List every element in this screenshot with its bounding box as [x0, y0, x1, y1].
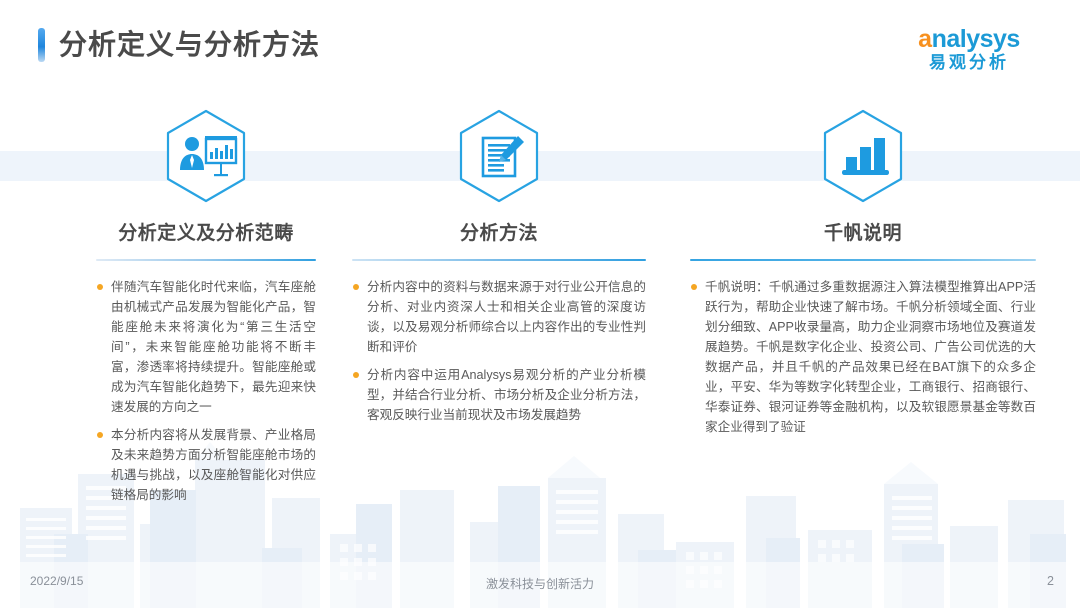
- bullet-list: 分析内容中的资料与数据来源于对行业公开信息的分析、对业内资深人士和相关企业高管的…: [352, 277, 646, 425]
- column-analysis-method: 分析方法 分析内容中的资料与数据来源于对行业公开信息的分析、对业内资深人士和相关…: [340, 104, 670, 513]
- icon-row: [352, 104, 646, 208]
- logo-wordmark-rest: nalysys: [932, 25, 1020, 53]
- analysys-logo: analysys 易观分析: [894, 26, 1044, 73]
- footer-slogan: 激发科技与创新活力: [0, 575, 1080, 592]
- column-heading: 分析定义及分析范畴: [96, 218, 316, 245]
- document-pencil-icon: [456, 108, 542, 204]
- slide-footer: 2022/9/15 激发科技与创新活力 2: [0, 562, 1080, 608]
- list-item: 本分析内容将从发展背景、产业格局及未来趋势方面分析智能座舱市场的机遇与挑战，以及…: [96, 425, 316, 505]
- logo-wordmark: analysys: [894, 26, 1044, 52]
- logo-wordmark-first-letter: a: [918, 25, 931, 53]
- slide-header: 分析定义与分析方法 analysys 易观分析: [0, 0, 1080, 100]
- list-item: 伴随汽车智能化时代来临，汽车座舱由机械式产品发展为智能化产品，智能座舱未来将演化…: [96, 277, 316, 417]
- bar-chart-icon: [820, 108, 906, 204]
- list-item: 分析内容中的资料与数据来源于对行业公开信息的分析、对业内资深人士和相关企业高管的…: [352, 277, 646, 357]
- column-divider: [352, 259, 646, 261]
- column-analysis-definition: 分析定义及分析范畴 伴随汽车智能化时代来临，汽车座舱由机械式产品发展为智能化产品…: [0, 104, 340, 513]
- page-title-group: 分析定义与分析方法: [38, 28, 320, 62]
- content-columns: 分析定义及分析范畴 伴随汽车智能化时代来临，汽车座舱由机械式产品发展为智能化产品…: [0, 104, 1080, 513]
- column-qianfan-description: 千帆说明 千帆说明：千帆通过多重数据源注入算法模型推算出APP活跃行为，帮助企业…: [670, 104, 1080, 513]
- list-item: 分析内容中运用Analysys易观分析的产业分析模型，并结合行业分析、市场分析及…: [352, 365, 646, 425]
- title-accent-bar: [38, 28, 45, 62]
- bullet-list: 伴随汽车智能化时代来临，汽车座舱由机械式产品发展为智能化产品，智能座舱未来将演化…: [96, 277, 316, 505]
- page-number: 2: [1047, 574, 1054, 588]
- icon-row: [690, 104, 1036, 208]
- column-divider: [690, 259, 1036, 261]
- logo-chinese-name: 易观分析: [894, 54, 1044, 73]
- column-heading: 分析方法: [352, 218, 646, 245]
- column-heading: 千帆说明: [690, 218, 1036, 245]
- presenter-chart-icon: [163, 108, 249, 204]
- list-item: 千帆说明：千帆通过多重数据源注入算法模型推算出APP活跃行为，帮助企业快速了解市…: [690, 277, 1036, 437]
- slide: 分析定义与分析方法 analysys 易观分析: [0, 0, 1080, 608]
- bullet-list: 千帆说明：千帆通过多重数据源注入算法模型推算出APP活跃行为，帮助企业快速了解市…: [690, 277, 1036, 437]
- icon-row: [96, 104, 316, 208]
- page-title: 分析定义与分析方法: [59, 31, 320, 59]
- column-divider: [96, 259, 316, 261]
